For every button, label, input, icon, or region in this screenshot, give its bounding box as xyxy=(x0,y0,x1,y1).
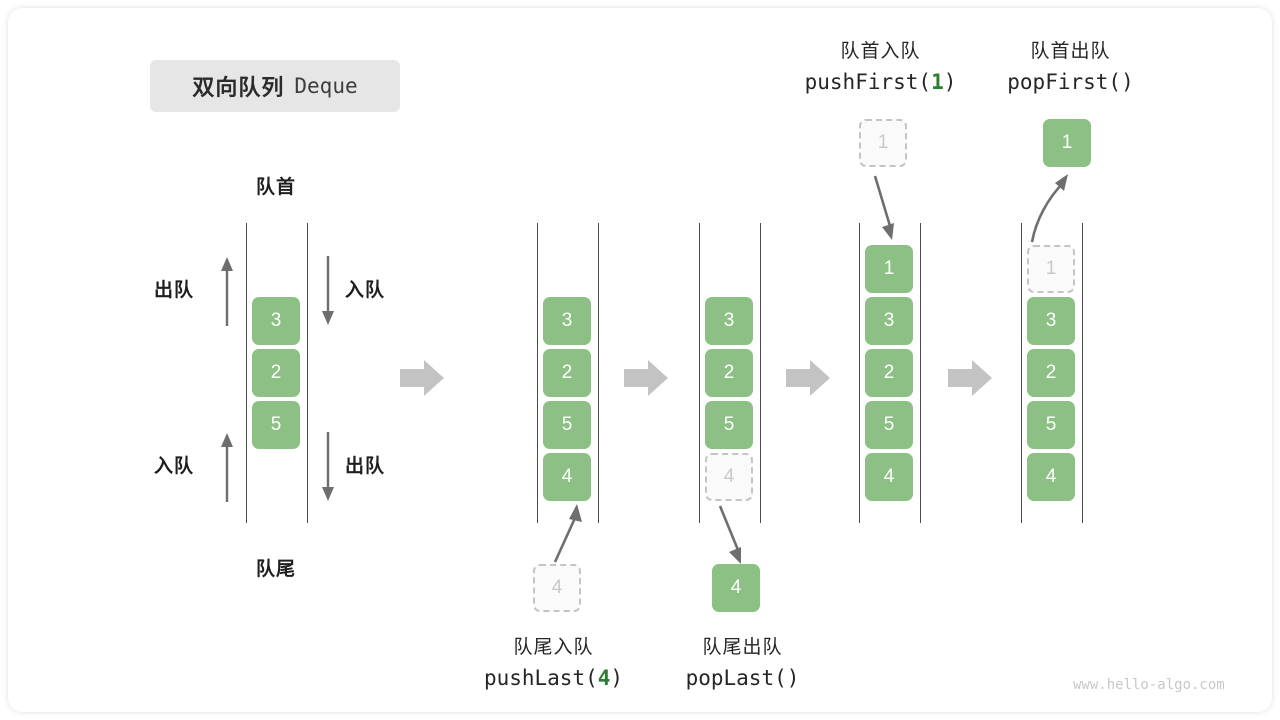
element-box: 5 xyxy=(1027,401,1075,449)
caption-push-last: 队尾入队 pushLast(4) xyxy=(451,632,656,690)
caption-pop-last-code: popLast() xyxy=(640,666,845,690)
stack-pop-last: 3 2 5 4 xyxy=(705,297,753,501)
caption-push-last-code: pushLast(4) xyxy=(451,666,656,690)
transition-arrow-icon xyxy=(948,358,992,398)
rail-left-3 xyxy=(699,223,700,523)
caption-push-first: 队首入队 pushFirst(1) xyxy=(778,36,983,94)
label-front: 队首 xyxy=(248,172,304,199)
element-box: 4 xyxy=(543,453,591,501)
stack-initial: 3 2 5 xyxy=(252,297,300,449)
element-box: 5 xyxy=(252,401,300,449)
caption-pop-first-code: popFirst() xyxy=(968,70,1173,94)
element-box: 2 xyxy=(705,349,753,397)
caption-pop-last: 队尾出队 popLast() xyxy=(640,632,845,690)
watermark: www.hello-algo.com xyxy=(1073,677,1225,693)
stack-push-first: 1 3 2 5 4 xyxy=(865,245,913,501)
stack-pop-first: 1 3 2 5 4 xyxy=(1027,245,1075,501)
rail-right-5 xyxy=(1082,223,1083,523)
element-box: 3 xyxy=(705,297,753,345)
element-box: 2 xyxy=(543,349,591,397)
element-box: 3 xyxy=(1027,297,1075,345)
arrow-push-first-icon xyxy=(869,174,905,242)
arrow-up-front-out-icon xyxy=(216,256,238,326)
transition-arrow-icon xyxy=(624,358,668,398)
label-dequeue-rear: 出队 xyxy=(345,451,385,478)
element-box: 2 xyxy=(865,349,913,397)
transition-arrow-icon xyxy=(786,358,830,398)
rail-right-2 xyxy=(598,223,599,523)
arrow-down-front-in-icon xyxy=(317,256,339,326)
title-en: Deque xyxy=(294,74,357,98)
arrow-down-rear-out-icon xyxy=(317,432,339,502)
arrow-push-last-icon xyxy=(551,502,587,564)
rail-right-3 xyxy=(760,223,761,523)
arrow-pop-last-icon xyxy=(716,504,752,566)
stack-push-last: 3 2 5 4 xyxy=(543,297,591,501)
arrow-up-rear-in-icon xyxy=(216,432,238,502)
caption-pop-first: 队首出队 popFirst() xyxy=(968,36,1173,94)
element-box: 3 xyxy=(252,297,300,345)
caption-pop-first-cn: 队首出队 xyxy=(968,36,1173,63)
ghost-box-pop-last: 4 xyxy=(705,453,753,501)
ghost-box-push-first: 1 xyxy=(859,119,907,167)
rail-right-4 xyxy=(920,223,921,523)
element-box: 4 xyxy=(865,453,913,501)
caption-pop-last-cn: 队尾出队 xyxy=(640,632,845,659)
caption-push-first-code: pushFirst(1) xyxy=(778,70,983,94)
rail-left-2 xyxy=(537,223,538,523)
title-cn: 双向队列 xyxy=(192,70,284,102)
diagram-card: 双向队列 Deque 队首 队尾 3 2 5 出队 入队 入队 出队 xyxy=(8,8,1272,712)
rail-left-1 xyxy=(246,223,247,523)
popped-box-pop-first: 1 xyxy=(1043,119,1091,167)
label-dequeue-front: 出队 xyxy=(154,275,194,302)
element-box: 2 xyxy=(252,349,300,397)
rail-right-1 xyxy=(307,223,308,523)
arrow-pop-first-icon xyxy=(1026,172,1076,244)
transition-arrow-icon xyxy=(400,358,444,398)
title-badge: 双向队列 Deque xyxy=(150,60,400,112)
rail-left-5 xyxy=(1021,223,1022,523)
element-box: 4 xyxy=(1027,453,1075,501)
label-rear: 队尾 xyxy=(248,554,304,581)
element-box: 2 xyxy=(1027,349,1075,397)
element-box: 5 xyxy=(543,401,591,449)
label-enqueue-front: 入队 xyxy=(345,275,385,302)
ghost-box-push-last: 4 xyxy=(533,564,581,612)
element-box: 5 xyxy=(705,401,753,449)
ghost-box-pop-first: 1 xyxy=(1027,245,1075,293)
element-box: 5 xyxy=(865,401,913,449)
element-box: 3 xyxy=(865,297,913,345)
element-box: 3 xyxy=(543,297,591,345)
label-enqueue-rear: 入队 xyxy=(154,451,194,478)
caption-push-first-cn: 队首入队 xyxy=(778,36,983,63)
element-box: 1 xyxy=(865,245,913,293)
rail-left-4 xyxy=(859,223,860,523)
popped-box-pop-last: 4 xyxy=(712,564,760,612)
caption-push-last-cn: 队尾入队 xyxy=(451,632,656,659)
